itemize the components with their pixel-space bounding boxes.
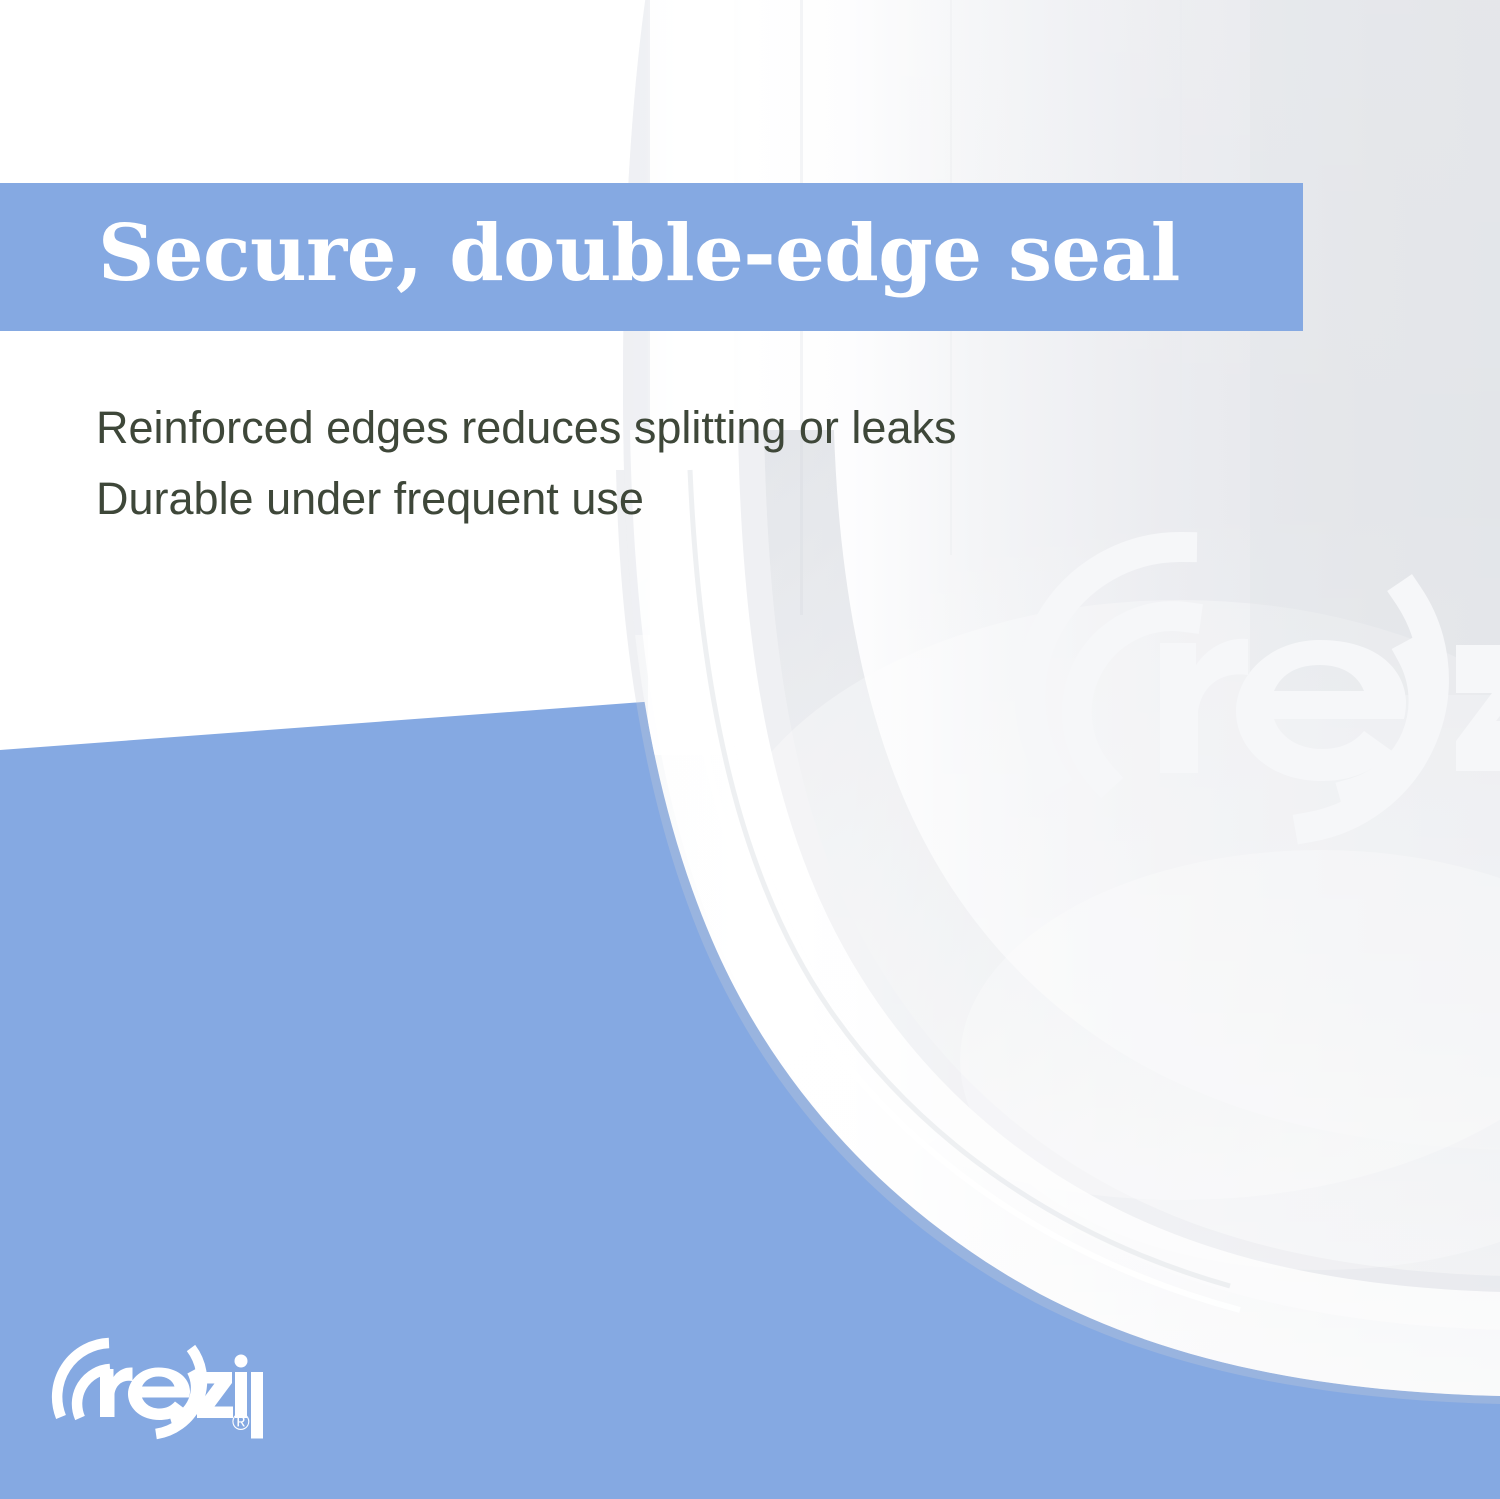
registered-trademark-symbol: ® xyxy=(232,1409,250,1437)
rezip-brand-logo xyxy=(48,1336,263,1441)
rezip-logo-glyph xyxy=(48,1336,263,1441)
product-feature-image: Secure, double-edge seal Reinforced edge… xyxy=(0,0,1500,1499)
subcopy-line-2: Durable under frequent use xyxy=(96,463,956,534)
subcopy-block: Reinforced edges reduces splitting or le… xyxy=(96,392,956,534)
subcopy-line-1: Reinforced edges reduces splitting or le… xyxy=(96,392,956,463)
headline-banner: Secure, double-edge seal xyxy=(0,183,1303,331)
headline-text: Secure, double-edge seal xyxy=(0,215,1180,293)
